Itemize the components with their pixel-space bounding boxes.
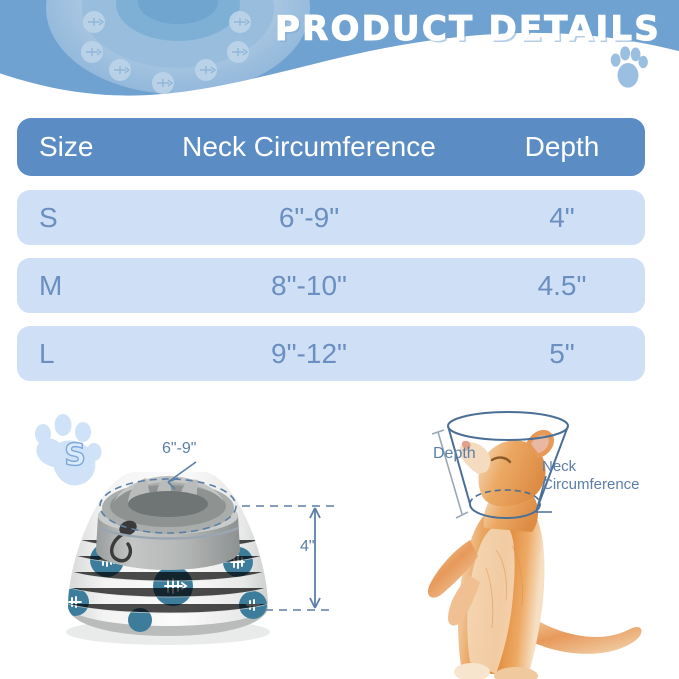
column-header-size: Size xyxy=(17,131,139,163)
depth-dimension-arrow xyxy=(310,508,320,608)
cell-depth: 4.5" xyxy=(479,270,645,302)
cell-size: M xyxy=(17,270,139,302)
table-header-row: Size Neck Circumference Depth xyxy=(17,118,645,176)
cell-depth: 4" xyxy=(479,202,645,234)
page-title: PRODUCT DETAILS xyxy=(268,6,668,52)
column-header-neck: Neck Circumference xyxy=(139,131,479,163)
pet-recovery-cone-icon xyxy=(61,472,270,645)
cone-neck-label: 6"-9" xyxy=(162,440,196,458)
cat-diagram-graphic xyxy=(400,400,679,679)
cone-depth-label: 4" xyxy=(300,538,315,556)
cell-neck: 9"-12" xyxy=(139,338,479,370)
table-row: S 6"-9" 4" xyxy=(17,190,645,245)
cell-size: S xyxy=(17,202,139,234)
cat-neck-label: Neck Circumference xyxy=(542,458,652,494)
cell-depth: 5" xyxy=(479,338,645,370)
table-row: L 9"-12" 5" xyxy=(17,326,645,381)
cat-depth-label: Depth xyxy=(433,445,476,463)
cone-product-diagram: 6"-9" 4" S xyxy=(10,410,350,675)
cell-size: L xyxy=(17,338,139,370)
size-badge-letter: S xyxy=(58,438,92,473)
cat-measure-diagram: Depth Neck Circumference xyxy=(400,400,679,679)
cell-neck: 6"-9" xyxy=(139,202,479,234)
header-banner: PRODUCT DETAILS xyxy=(0,0,679,120)
diagram-area: 6"-9" 4" S xyxy=(0,400,679,679)
cell-neck: 8"-10" xyxy=(139,270,479,302)
product-details-page: PRODUCT DETAILS Size Neck Circumference … xyxy=(0,0,679,679)
size-table: Size Neck Circumference Depth S 6"-9" 4"… xyxy=(17,118,645,394)
table-row: M 8"-10" 4.5" xyxy=(17,258,645,313)
column-header-depth: Depth xyxy=(479,131,645,163)
